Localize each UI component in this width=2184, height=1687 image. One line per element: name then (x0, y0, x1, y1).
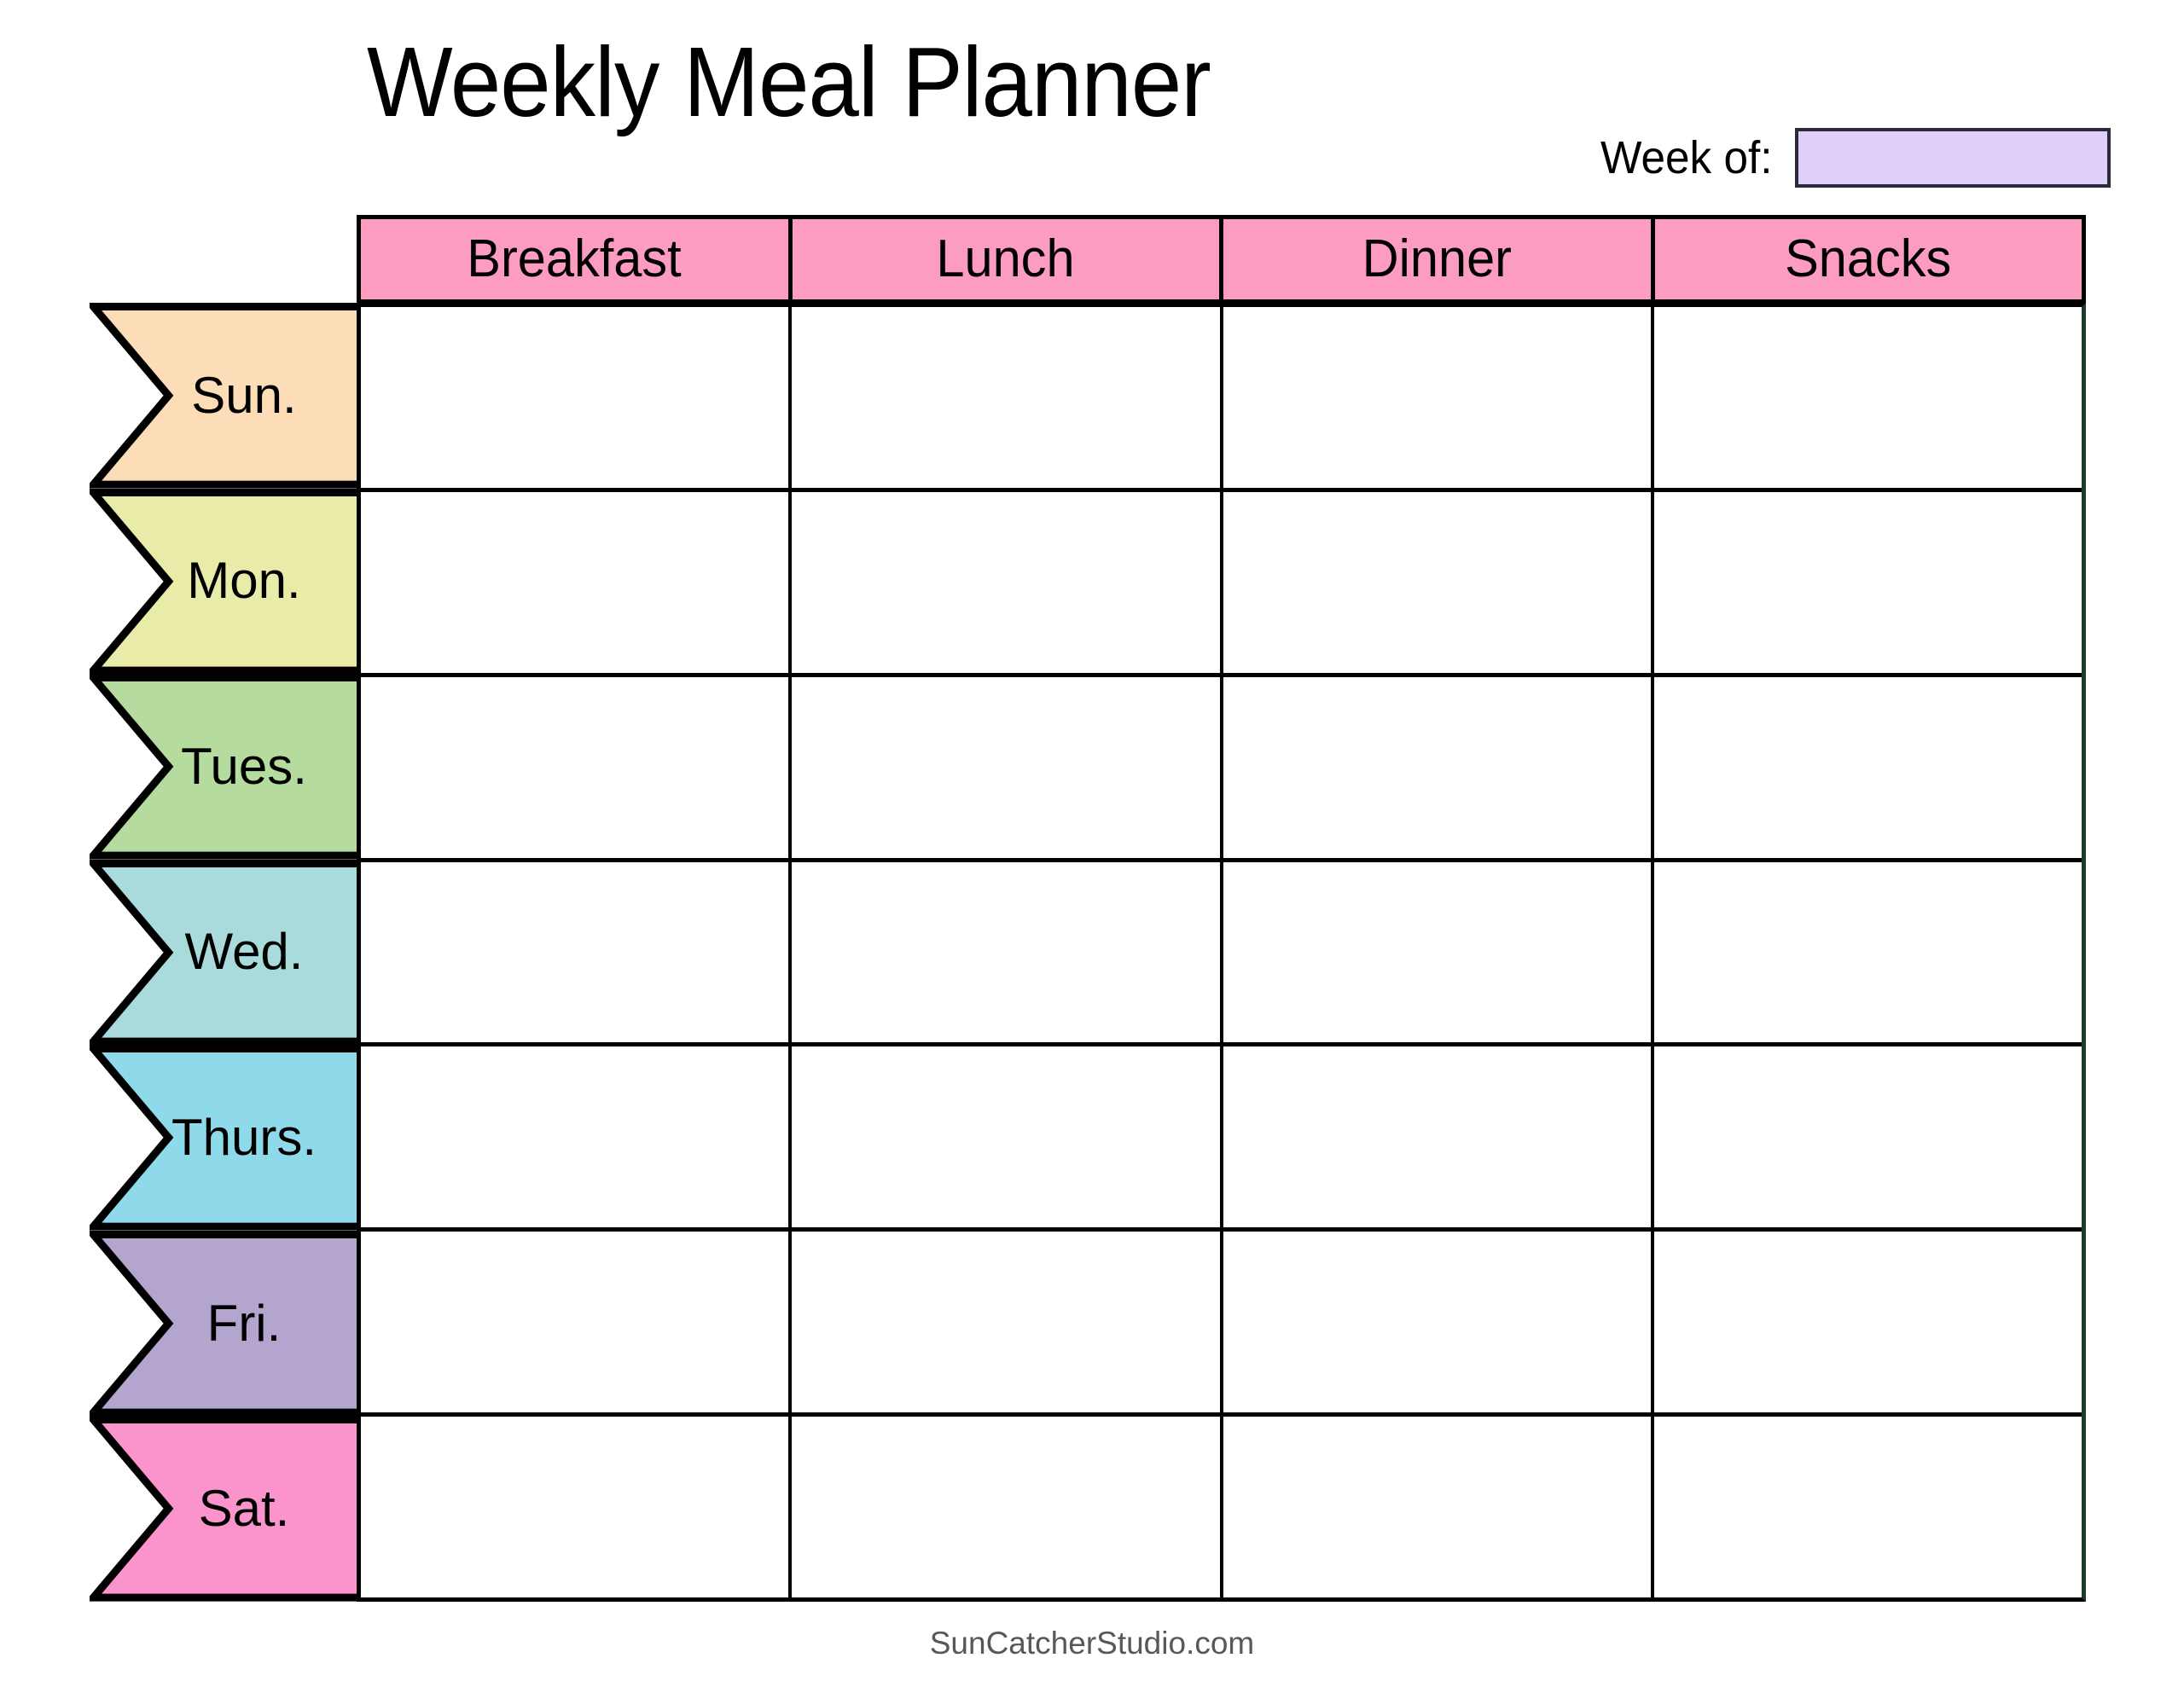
meal-cell[interactable] (1654, 1232, 2082, 1412)
day-tab-label: Thurs. (90, 1112, 361, 1163)
meal-cell[interactable] (1654, 492, 2082, 673)
meal-cell[interactable] (1223, 307, 1654, 488)
meal-row-wed (361, 862, 2082, 1047)
meal-cell[interactable] (361, 677, 792, 858)
meal-cell[interactable] (361, 1232, 792, 1412)
day-tab-column: Sun.Mon.Tues.Wed.Thurs.Fri.Sat. (90, 303, 361, 1602)
page-title: Weekly Meal Planner (367, 32, 1211, 131)
meal-column-header-dinner: Dinner (1223, 219, 1655, 299)
meal-cell[interactable] (1654, 307, 2082, 488)
meal-cell[interactable] (1223, 862, 1654, 1043)
meal-row-sat (361, 1417, 2082, 1597)
meal-row-thurs (361, 1046, 2082, 1232)
day-tab-tues[interactable]: Tues. (90, 674, 361, 860)
meal-cell[interactable] (792, 1046, 1223, 1227)
day-tab-fri[interactable]: Fri. (90, 1231, 361, 1417)
meal-column-label: Dinner (1362, 233, 1512, 286)
meal-cell[interactable] (361, 1046, 792, 1227)
day-tab-label: Wed. (90, 926, 361, 977)
meal-planner-grid: Breakfast Lunch Dinner Snacks Sun.Mon.Tu… (90, 215, 2086, 1602)
meal-column-header-breakfast: Breakfast (361, 219, 793, 299)
meal-cell[interactable] (792, 677, 1223, 858)
meal-cell[interactable] (792, 1417, 1223, 1597)
meal-cell[interactable] (1654, 862, 2082, 1043)
meal-row-mon (361, 492, 2082, 677)
day-tab-wed[interactable]: Wed. (90, 860, 361, 1046)
meal-column-label: Breakfast (468, 233, 682, 286)
day-tab-label: Sun. (90, 370, 361, 421)
meal-cell[interactable] (792, 862, 1223, 1043)
meal-cell[interactable] (1223, 677, 1654, 858)
meal-cell[interactable] (792, 1232, 1223, 1412)
meal-cell[interactable] (1654, 1417, 2082, 1597)
meal-cell[interactable] (792, 492, 1223, 673)
meal-cell[interactable] (1223, 1046, 1654, 1227)
day-tab-label: Fri. (90, 1298, 361, 1349)
meal-cell[interactable] (361, 492, 792, 673)
meal-cell[interactable] (1654, 1046, 2082, 1227)
meal-cell[interactable] (361, 1417, 792, 1597)
day-tab-mon[interactable]: Mon. (90, 489, 361, 675)
meal-cell[interactable] (792, 307, 1223, 488)
day-tab-sat[interactable]: Sat. (90, 1416, 361, 1602)
day-tab-sun[interactable]: Sun. (90, 303, 361, 489)
meal-row-fri (361, 1232, 2082, 1417)
meal-column-header-snacks: Snacks (1655, 219, 2082, 299)
week-of-group: Week of: (1600, 126, 2111, 189)
footer-credit: SunCatcherStudio.com (0, 1627, 2184, 1659)
meal-cell[interactable] (1223, 1232, 1654, 1412)
meal-column-header-lunch: Lunch (793, 219, 1224, 299)
day-tab-label: Tues. (90, 741, 361, 792)
page-header: Weekly Meal Planner Week of: (0, 0, 2184, 215)
meal-cell[interactable] (1223, 492, 1654, 673)
day-tab-label: Sat. (90, 1483, 361, 1534)
day-tab-label: Mon. (90, 555, 361, 606)
meal-cell[interactable] (1223, 1417, 1654, 1597)
day-tab-thurs[interactable]: Thurs. (90, 1045, 361, 1231)
meal-cell[interactable] (361, 862, 792, 1043)
meal-cell[interactable] (1654, 677, 2082, 858)
meal-row-sun (361, 307, 2082, 492)
meal-cell[interactable] (361, 307, 792, 488)
week-of-label: Week of: (1600, 135, 1773, 181)
meal-cells-grid (357, 303, 2086, 1602)
week-of-input[interactable] (1795, 128, 2111, 188)
meal-row-tues (361, 677, 2082, 862)
meal-column-header-row: Breakfast Lunch Dinner Snacks (357, 215, 2086, 304)
meal-column-label: Lunch (937, 233, 1075, 286)
meal-column-label: Snacks (1785, 233, 1951, 286)
